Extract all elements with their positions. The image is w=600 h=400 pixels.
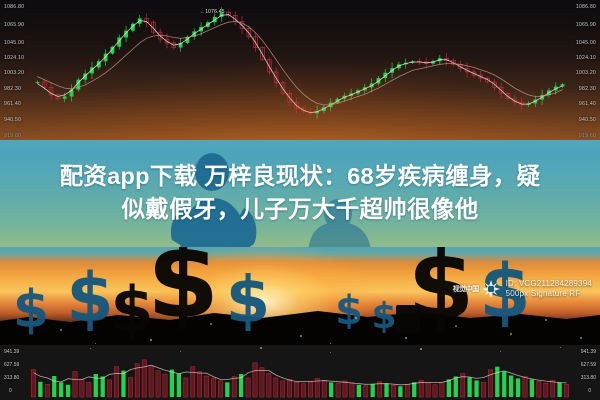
price-axis-tick-left-1: 1065.90 <box>4 22 24 28</box>
svg-text:$: $ <box>228 267 268 331</box>
price-axis-tick-left-0: 1086.80 <box>4 4 24 10</box>
volume-chart-plot <box>0 345 600 400</box>
dollar-sign-icon-6: $ <box>336 289 362 329</box>
bokeh-dot <box>580 337 582 339</box>
vcg-logo: 视觉中国 <box>453 279 501 299</box>
bokeh-dot <box>60 329 62 331</box>
bokeh-dot <box>260 347 262 349</box>
price-axis-tick-right-3: 1024.10 <box>576 55 596 61</box>
price-axis-tick-left-8: 919.60 <box>4 133 21 139</box>
watermark-license: 500px Signature RF <box>506 289 592 299</box>
dollar-sign-icon-2: $ <box>68 261 112 331</box>
price-axis-tick-left-7: 940.50 <box>4 117 21 123</box>
headline-line-1: 配资app下载 万梓良现状：68岁疾病缠身，疑 <box>0 160 600 193</box>
price-axis-tick-left-6: 961.40 <box>4 101 21 107</box>
price-axis-tick-left-4: 1003.20 <box>4 70 24 76</box>
volume-tick-right-0: 941.39 <box>581 349 596 355</box>
svg-text:$: $ <box>336 289 362 329</box>
bokeh-dot <box>405 337 407 339</box>
watermark-text: ID: VCG211284289394 500px Signature RF <box>506 279 592 299</box>
price-axis-tick-right-1: 1065.90 <box>576 22 596 28</box>
headline-line-2: 似戴假牙，儿子万大千超帅很像他 <box>0 193 600 226</box>
price-axis-tick-left-3: 1024.10 <box>4 55 24 61</box>
price-axis-tick-right-2: 1045.00 <box>576 40 596 46</box>
volume-chart-panel: 941.39 627.59 313.80 0 941.39 627.59 313… <box>0 345 600 400</box>
image-canvas: 1086.80 1065.90 1045.00 1024.10 1003.20 … <box>0 0 600 400</box>
price-axis-tick-left-2: 1045.00 <box>4 40 24 46</box>
dollar-sign-icon-1: $ <box>14 281 48 335</box>
dollar-sign-icon-4: $ <box>140 247 226 329</box>
vcg-logo-label: 视觉中国 <box>453 284 479 294</box>
price-axis-tick-right-5: 982.30 <box>579 86 596 92</box>
bokeh-dot <box>420 348 422 350</box>
volume-tick-right-1: 627.59 <box>581 362 596 368</box>
price-axis-tick-left-5: 982.30 <box>4 86 21 92</box>
dollar-sign-icon-5: $ <box>228 267 268 331</box>
bokeh-dot <box>510 333 512 335</box>
bokeh-dot <box>300 335 302 337</box>
article-headline: 配资app下载 万梓良现状：68岁疾病缠身，疑 似戴假牙，儿子万大千超帅很像他 <box>0 160 600 227</box>
price-axis-tick-right-6: 961.40 <box>579 101 596 107</box>
watermark-id: ID: VCG211284289394 <box>506 279 592 289</box>
price-axis-tick-right-4: 1003.20 <box>576 70 596 76</box>
watermark: 视觉中国 ID: VCG211284289394 5 <box>453 279 592 299</box>
bokeh-dot <box>455 325 457 327</box>
price-axis-tick-right-8: 919.60 <box>579 133 596 139</box>
svg-text:$: $ <box>68 261 112 331</box>
volume-tick-left-0: 941.39 <box>4 349 19 355</box>
price-chart-panel: 1086.80 1065.90 1045.00 1024.10 1003.20 … <box>0 0 600 152</box>
sunset-photo: $ $ $ $ $ $ $ $ $ 视觉中国 <box>0 247 600 353</box>
svg-text:$: $ <box>372 297 396 333</box>
dollar-sign-icon-7: $ <box>372 297 396 333</box>
volume-tick-right-3: 0 <box>588 388 591 394</box>
volume-tick-left-1: 627.59 <box>4 362 19 368</box>
volume-tick-left-2: 313.80 <box>4 375 19 381</box>
volume-tick-left-3: 0 <box>9 388 12 394</box>
starburst-icon <box>481 279 501 299</box>
svg-text:$: $ <box>14 281 48 335</box>
volume-tick-right-2: 313.80 <box>581 375 596 381</box>
bokeh-dot <box>150 339 152 341</box>
price-axis-tick-right-7: 940.50 <box>579 117 596 123</box>
price-axis-tick-right-0: 1086.80 <box>576 4 596 10</box>
svg-text:$: $ <box>147 247 219 329</box>
price-peak-annotation: ←1076.45 <box>200 9 225 15</box>
price-chart-plot <box>0 0 600 152</box>
